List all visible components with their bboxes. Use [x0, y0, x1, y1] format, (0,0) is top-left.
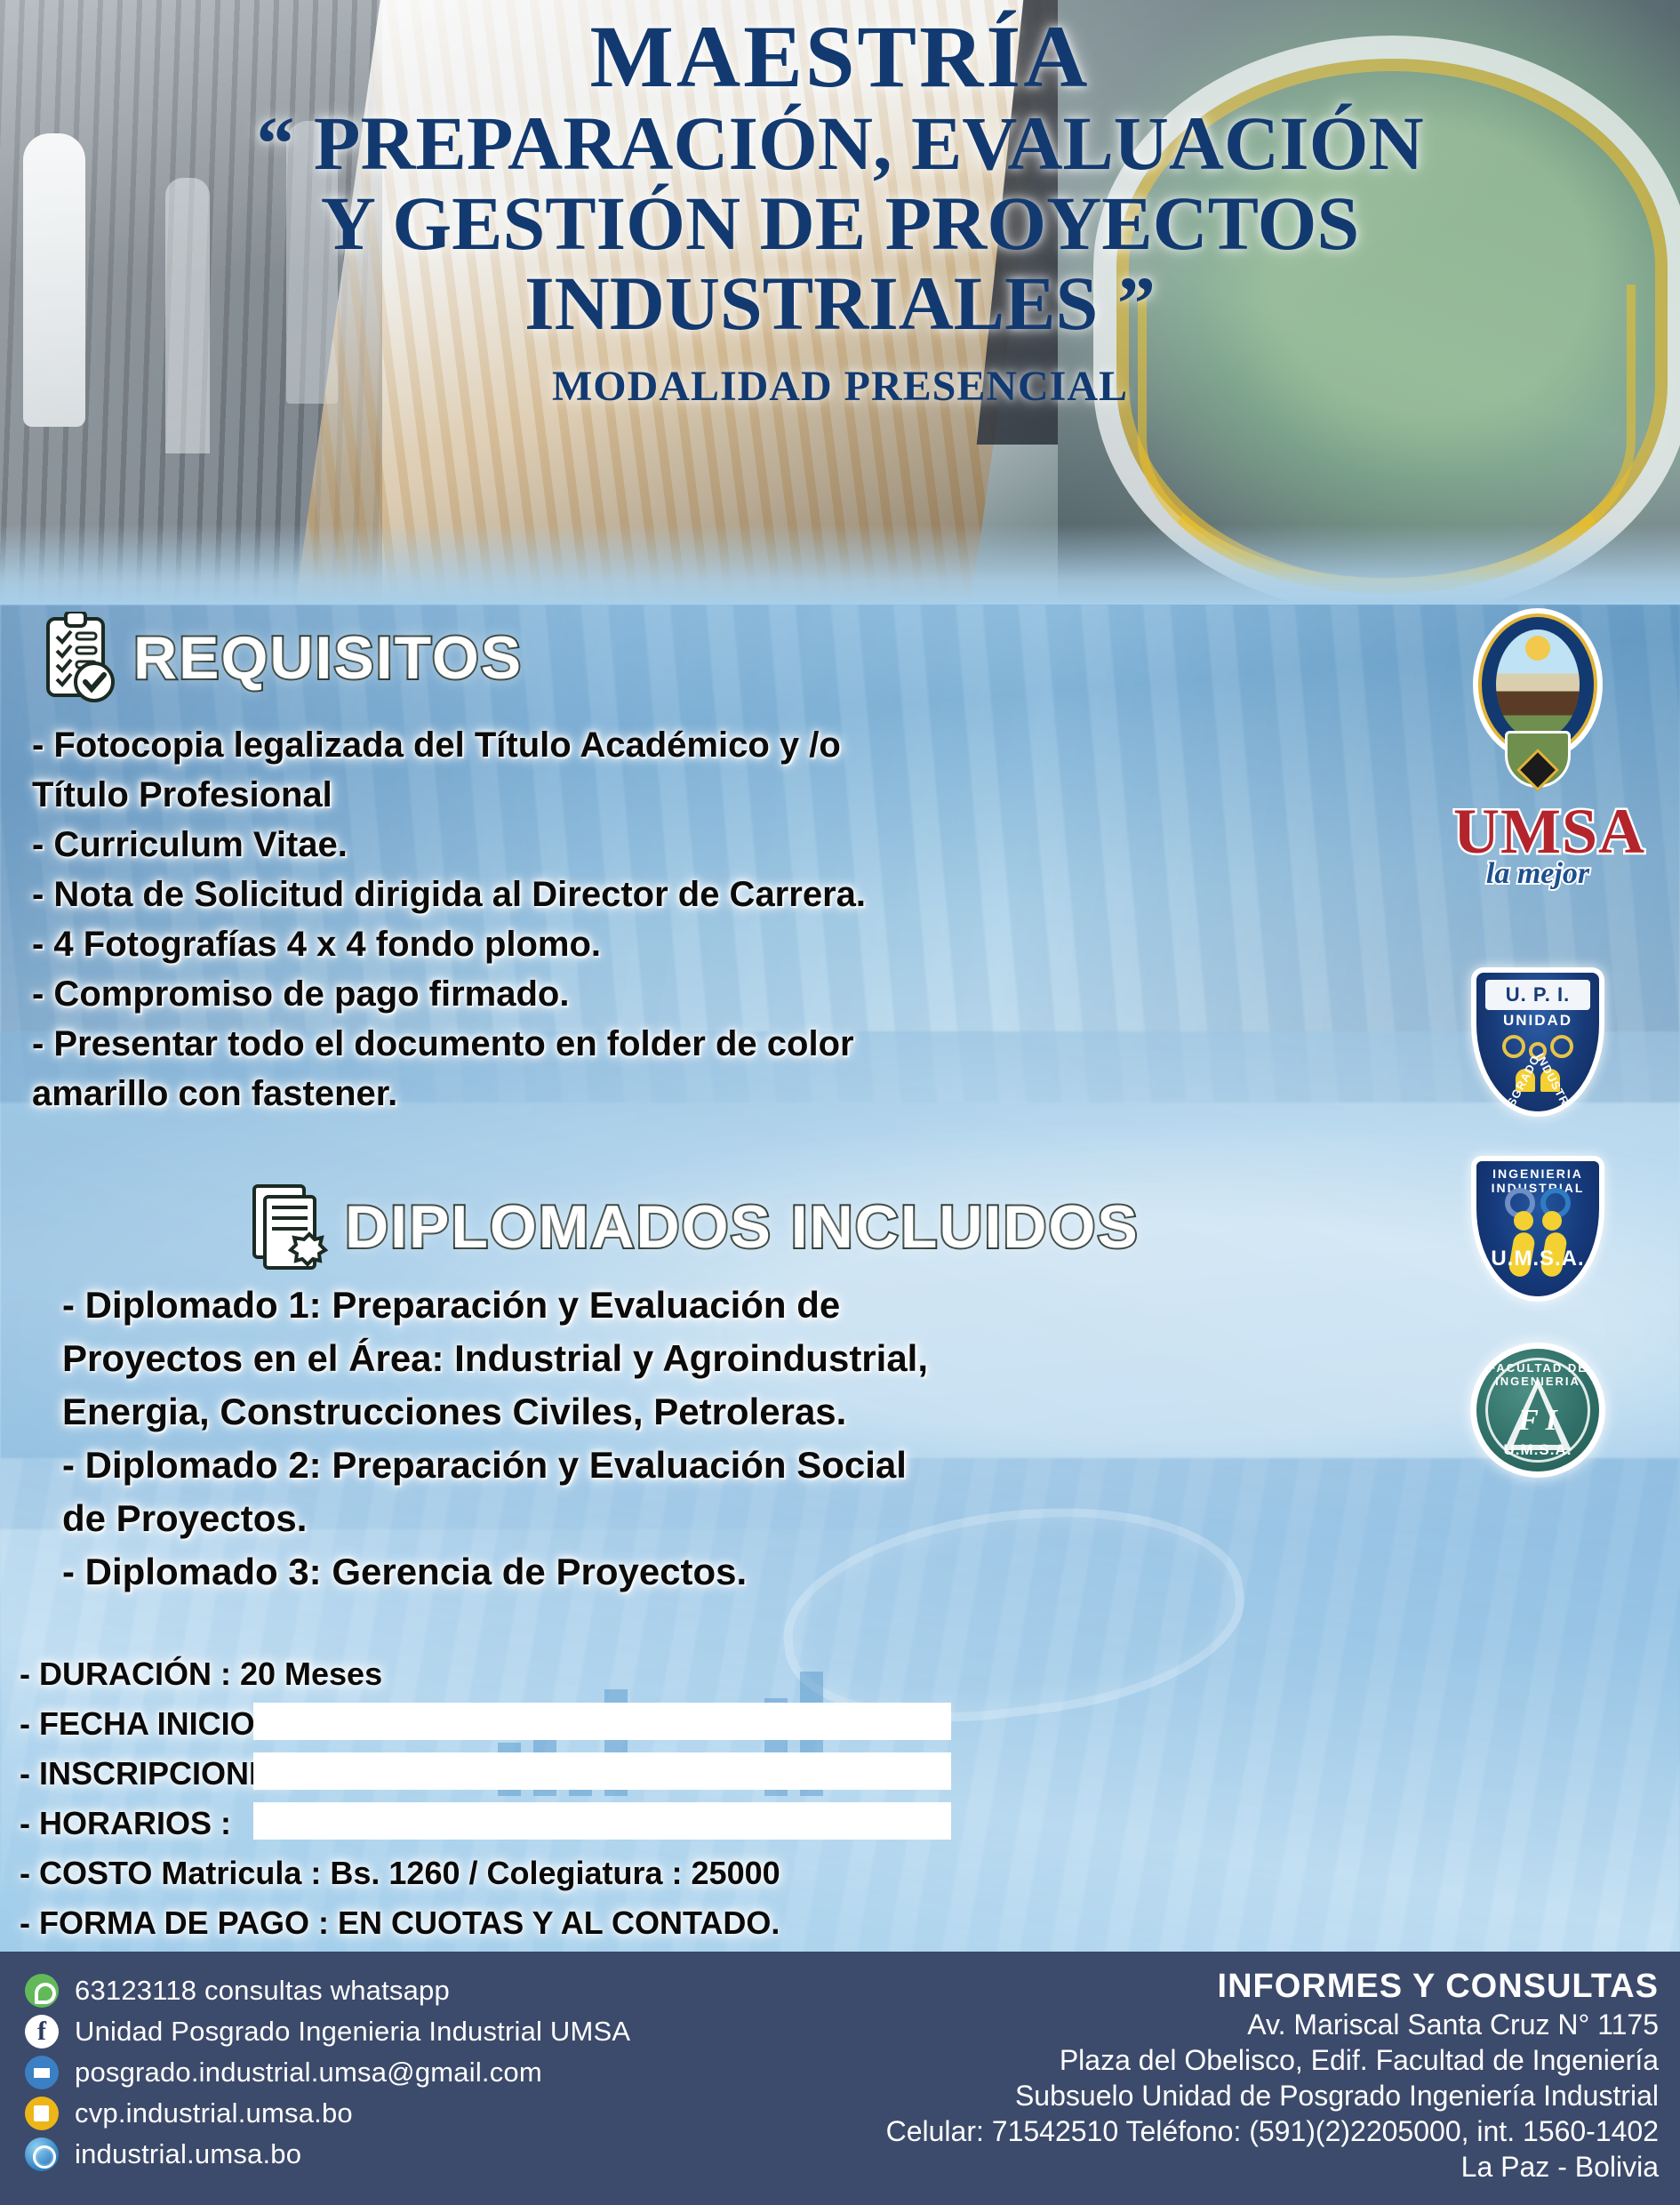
contact-row-facebook[interactable]: Unidad Posgrado Ingenieria Industrial UM… [25, 2012, 630, 2051]
contact-facebook-text: Unidad Posgrado Ingenieria Industrial UM… [75, 2016, 630, 2048]
contact-row-website[interactable]: industrial.umsa.bo [25, 2135, 630, 2174]
gear-icon [1502, 1035, 1525, 1058]
contact-website-text: industrial.umsa.bo [75, 2138, 301, 2170]
title-modality: MODALIDAD PRESENCIAL [0, 361, 1680, 413]
person-head-icon [1542, 1211, 1562, 1231]
requisitos-list: - Fotocopia legalizada del Título Académ… [32, 720, 866, 1119]
diplomados-item: - Diplomado 2: Preparación y Evaluación … [62, 1439, 928, 1492]
umsa-seal-logo [1471, 613, 1604, 788]
upi-shield-logo: U. P. I. UNIDAD POSGRADO INDUSTRIAL [1471, 967, 1604, 1117]
header-bottom-fade [0, 525, 1680, 605]
contact-row-cvp[interactable]: cvp.industrial.umsa.bo [25, 2094, 630, 2133]
poster-root: MAESTRÍA “ PREPARACIÓN, EVALUACIÓN Y GES… [0, 0, 1680, 2205]
horarios-field[interactable] [253, 1802, 951, 1840]
requisitos-item: - Presentar todo el documento en folder … [32, 1019, 866, 1069]
forma-pago-label: - FORMA DE PAGO : EN CUOTAS Y AL CONTADO… [20, 1904, 780, 1942]
fecha-inicio-field[interactable] [253, 1703, 951, 1740]
contact-row-whatsapp[interactable]: 63123118 consultas whatsapp [25, 1971, 630, 2010]
email-icon [25, 2056, 59, 2089]
requisitos-item: - Fotocopia legalizada del Título Académ… [32, 720, 866, 770]
costo-label: - COSTO Matricula : Bs. 1260 / Colegiatu… [20, 1855, 780, 1892]
umsa-wordmark-main: UMSA [1453, 798, 1622, 864]
diplomados-item: de Proyectos. [62, 1492, 928, 1545]
ii-shield-name: U.M.S.A. [1476, 1247, 1599, 1271]
info-line: La Paz - Bolivia [886, 2149, 1659, 2185]
facultad-ingenieria-seal-logo: FACULTAD DE INGENIERIA F I U.M.S.A. [1470, 1343, 1605, 1478]
fi-seal-center-text: F I [1476, 1404, 1599, 1438]
duracion-label: - DURACIÓN : 20 Meses [20, 1656, 382, 1693]
info-line: Plaza del Obelisco, Edif. Facultad de In… [886, 2042, 1659, 2078]
fi-seal-bottom-text: U.M.S.A. [1476, 1441, 1599, 1459]
title-line-2: Y GESTIÓN DE PROYECTOS [0, 185, 1680, 261]
details-list: - DURACIÓN : 20 Meses - FECHA INICIO : -… [20, 1649, 780, 1948]
whatsapp-icon [25, 1974, 59, 2008]
gear-icon [1550, 1035, 1573, 1058]
ingenieria-industrial-shield-logo: INGENIERIA INDUSTRIAL U.M.S.A. [1471, 1156, 1604, 1302]
requisitos-heading-label: REQUISITOS [133, 623, 523, 693]
info-line: Av. Mariscal Santa Cruz N° 1175 [886, 2007, 1659, 2042]
info-title: INFORMES Y CONSULTAS [886, 1966, 1659, 2007]
footer-contact-list: 63123118 consultas whatsapp Unidad Posgr… [25, 1971, 630, 2176]
horarios-label: - HORARIOS : [20, 1805, 231, 1842]
requisitos-item: - Compromiso de pago firmado. [32, 969, 866, 1019]
requisitos-item: Título Profesional [32, 770, 866, 820]
facebook-icon [25, 2015, 59, 2049]
upi-shield-subtitle: UNIDAD [1476, 1012, 1599, 1030]
detail-row-costo: - COSTO Matricula : Bs. 1260 / Colegiatu… [20, 1848, 780, 1898]
person-head-icon [1514, 1211, 1533, 1231]
diplomados-heading-row: DIPLOMADOS INCLUIDOS [249, 1181, 1140, 1273]
clipboard-check-icon [41, 612, 117, 704]
title-line-1: “ PREPARACIÓN, EVALUACIÓN [0, 105, 1680, 181]
inscripciones-field[interactable] [253, 1752, 951, 1790]
diplomados-item: - Diplomado 1: Preparación y Evaluación … [62, 1279, 928, 1332]
body-area: REQUISITOS - Fotocopia legalizada del Tí… [0, 605, 1680, 1952]
diplomados-item: Energia, Construcciones Civiles, Petrole… [62, 1385, 928, 1439]
diplomados-item: - Diplomado 3: Gerencia de Proyectos. [62, 1545, 928, 1599]
upi-shield-title: U. P. I. [1485, 980, 1590, 1010]
contact-row-email[interactable]: posgrado.industrial.umsa@gmail.com [25, 2053, 630, 2092]
certificate-icon [249, 1181, 329, 1273]
contact-whatsapp-text: 63123118 consultas whatsapp [75, 1975, 450, 2007]
contact-email-text: posgrado.industrial.umsa@gmail.com [75, 2057, 542, 2089]
info-line: Celular: 71542510 Teléfono: (591)(2)2205… [886, 2113, 1659, 2149]
title-maestria: MAESTRÍA [0, 9, 1680, 105]
requisitos-item: - 4 Fotografías 4 x 4 fondo plomo. [32, 919, 866, 969]
diplomados-item: Proyectos en el Área: Industrial y Agroi… [62, 1332, 928, 1385]
diplomados-heading-label: DIPLOMADOS INCLUIDOS [345, 1192, 1140, 1262]
logo-column: UMSA la mejor U. P. I. UNIDAD POSGRADO I… [1396, 605, 1680, 1952]
footer-bar: 63123118 consultas whatsapp Unidad Posgr… [0, 1952, 1680, 2205]
requisitos-item: amarillo con fastener. [32, 1069, 866, 1119]
fecha-inicio-label: - FECHA INICIO : [20, 1705, 275, 1743]
requisitos-item: - Nota de Solicitud dirigida al Director… [32, 870, 866, 919]
requisitos-item: - Curriculum Vitae. [32, 820, 866, 870]
requisitos-heading-row: REQUISITOS [41, 612, 523, 704]
title-line-3: INDUSTRIALES ” [0, 265, 1680, 341]
book-icon [25, 2097, 59, 2130]
detail-row-duracion: - DURACIÓN : 20 Meses [20, 1649, 780, 1699]
header-title-block: MAESTRÍA “ PREPARACIÓN, EVALUACIÓN Y GES… [0, 9, 1680, 413]
detail-row-forma-pago: - FORMA DE PAGO : EN CUOTAS Y AL CONTADO… [20, 1898, 780, 1948]
info-line: Subsuelo Unidad de Posgrado Ingeniería I… [886, 2078, 1659, 2113]
umsa-wordmark-logo: UMSA la mejor [1453, 798, 1622, 891]
diplomados-list: - Diplomado 1: Preparación y Evaluación … [62, 1279, 928, 1599]
contact-cvp-text: cvp.industrial.umsa.bo [75, 2097, 353, 2129]
globe-icon [25, 2137, 59, 2171]
footer-info-block: INFORMES Y CONSULTAS Av. Mariscal Santa … [886, 1966, 1659, 2185]
